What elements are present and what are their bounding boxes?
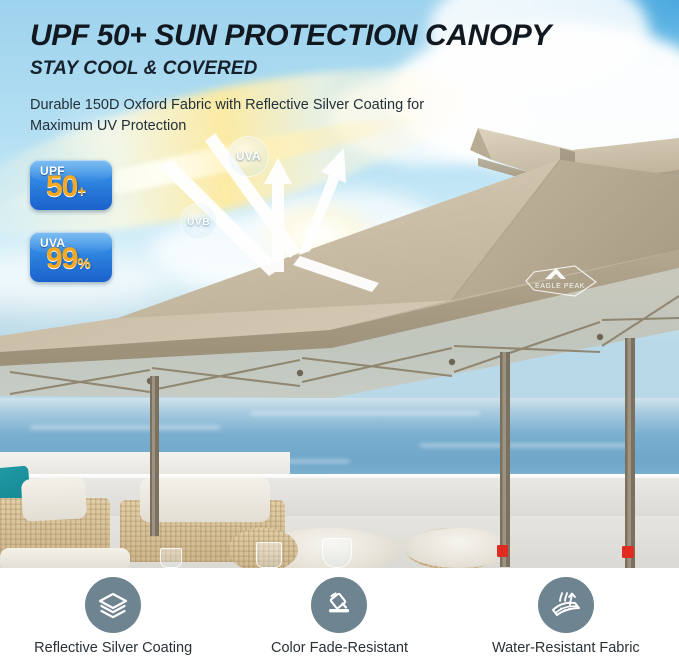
upf-badge: UPF 50+	[30, 160, 112, 210]
uva-ray-marker: UVA	[228, 136, 269, 177]
layers-icon	[85, 577, 141, 633]
hero-photo: EAGLE PEAK UPF 50+ SUN PROTECTION CANOPY…	[0, 0, 679, 568]
upf-badge-value: 50+	[46, 172, 86, 202]
feature-label: Water-Resistant Fabric	[492, 640, 640, 656]
uva-badge-suffix: %	[77, 255, 90, 272]
feature-item-reflective-silver-coating: Reflective Silver Coating	[0, 568, 226, 669]
feature-item-color-fade-resistant: Color Fade-Resistant	[226, 568, 452, 669]
feature-label: Reflective Silver Coating	[34, 640, 192, 656]
uva-badge-number: 99	[46, 242, 77, 275]
product-feature-image: EAGLE PEAK UPF 50+ SUN PROTECTION CANOPY…	[0, 0, 679, 669]
uva-badge: UVA 99%	[30, 232, 112, 282]
uva-badge-value: 99%	[46, 244, 91, 274]
eagle-peak-logo-text: EAGLE PEAK	[535, 283, 585, 290]
upf-badge-suffix: +	[77, 183, 86, 200]
page-description: Durable 150D Oxford Fabric with Reflecti…	[30, 95, 470, 137]
page-subtitle: STAY COOL & COVERED	[30, 58, 257, 80]
leg-latch-button	[497, 545, 508, 557]
upf-badge-number: 50	[46, 170, 77, 203]
leg-latch-button	[622, 546, 634, 558]
feature-item-water-resistant-fabric: Water-Resistant Fabric	[453, 568, 679, 669]
canopy-illustration: EAGLE PEAK	[0, 0, 679, 568]
water-repellent-fabric-icon	[538, 577, 594, 633]
page-title: UPF 50+ SUN PROTECTION CANOPY	[30, 19, 551, 53]
paint-roller-icon	[311, 577, 367, 633]
feature-label: Color Fade-Resistant	[271, 640, 408, 656]
uvb-ray-marker: UVB	[180, 203, 217, 240]
feature-strip: Reflective Silver Coating Color Fade-Res…	[0, 568, 679, 669]
